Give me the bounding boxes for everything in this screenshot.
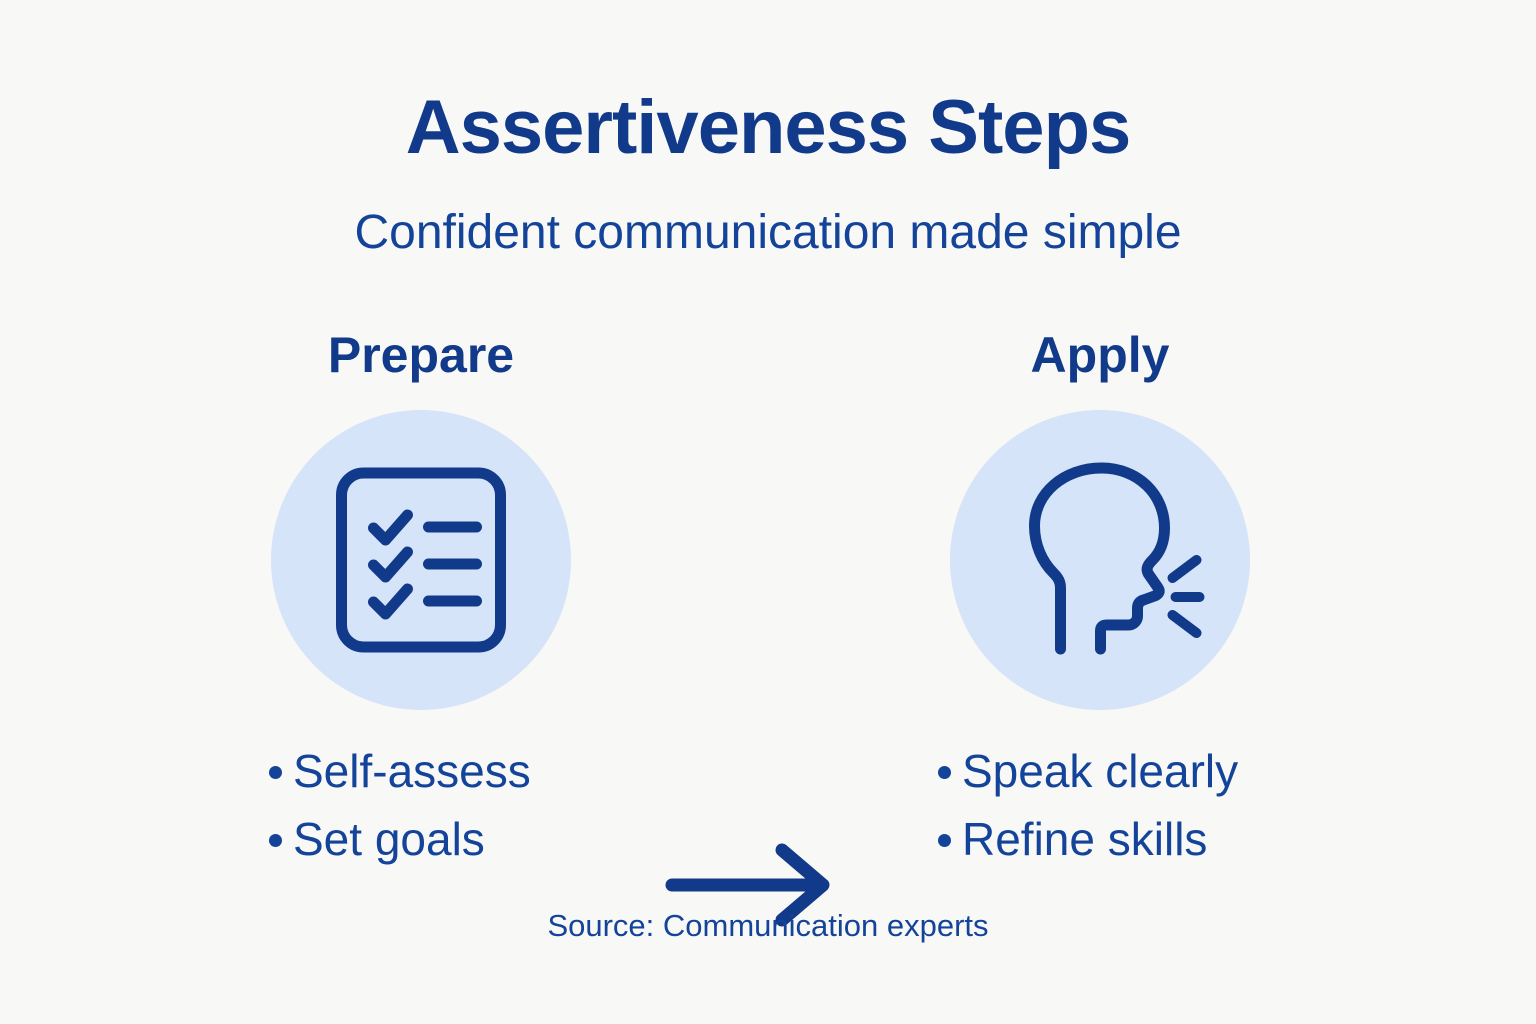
list-item: Speak clearly xyxy=(932,738,1412,806)
step-column-prepare: Prepare Self-assess xyxy=(181,320,661,380)
list-item-label: Self-assess xyxy=(293,745,531,797)
checklist-icon-circle xyxy=(271,410,571,710)
speaking-head-icon-circle xyxy=(950,410,1250,710)
infographic-slide: Assertiveness Steps Confident communicat… xyxy=(0,0,1536,1024)
step-heading-apply: Apply xyxy=(860,320,1340,380)
page-subtitle: Confident communication made simple xyxy=(0,205,1536,260)
list-item-label: Speak clearly xyxy=(962,745,1238,797)
speaking-head-icon xyxy=(993,460,1208,660)
list-item-label: Refine skills xyxy=(962,813,1207,865)
step-column-apply: Apply Speak clearly Refine skills xyxy=(860,320,1340,380)
list-item: Self-assess xyxy=(263,738,743,806)
list-item: Refine skills xyxy=(932,806,1412,874)
bullet-dot-icon xyxy=(269,834,282,847)
step-heading-prepare: Prepare xyxy=(181,320,661,380)
bullet-dot-icon xyxy=(938,834,951,847)
bullet-list-prepare: Self-assess Set goals xyxy=(181,738,743,873)
checklist-icon xyxy=(334,465,509,655)
list-item-label: Set goals xyxy=(293,813,485,865)
page-title: Assertiveness Steps xyxy=(0,88,1536,168)
source-caption: Source: Communication experts xyxy=(0,908,1536,944)
steps-container: Prepare Self-assess xyxy=(0,320,1536,880)
bullet-dot-icon xyxy=(269,766,282,779)
bullet-list-apply: Speak clearly Refine skills xyxy=(860,738,1412,873)
bullet-dot-icon xyxy=(938,766,951,779)
